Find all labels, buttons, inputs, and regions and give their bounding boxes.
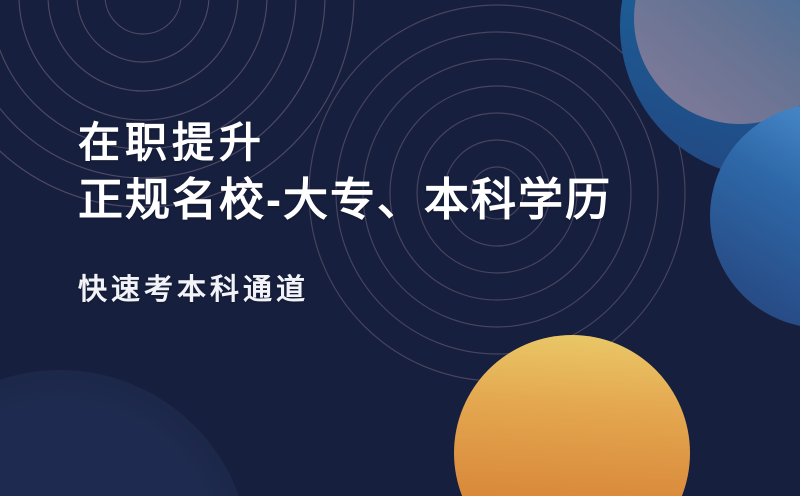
- orange-sphere: [454, 335, 690, 496]
- headline-line-1: 在职提升: [78, 118, 738, 168]
- promo-banner: 在职提升 正规名校-大专、本科学历 快速考本科通道: [0, 0, 800, 496]
- headline-line-2: 正规名校-大专、本科学历: [78, 168, 738, 232]
- navy-sphere-lower-left: [0, 370, 250, 496]
- headline-block: 在职提升 正规名校-大专、本科学历 快速考本科通道: [78, 118, 738, 308]
- muted-sphere-upper-right: [634, 0, 800, 124]
- subheadline: 快速考本科通道: [78, 273, 738, 308]
